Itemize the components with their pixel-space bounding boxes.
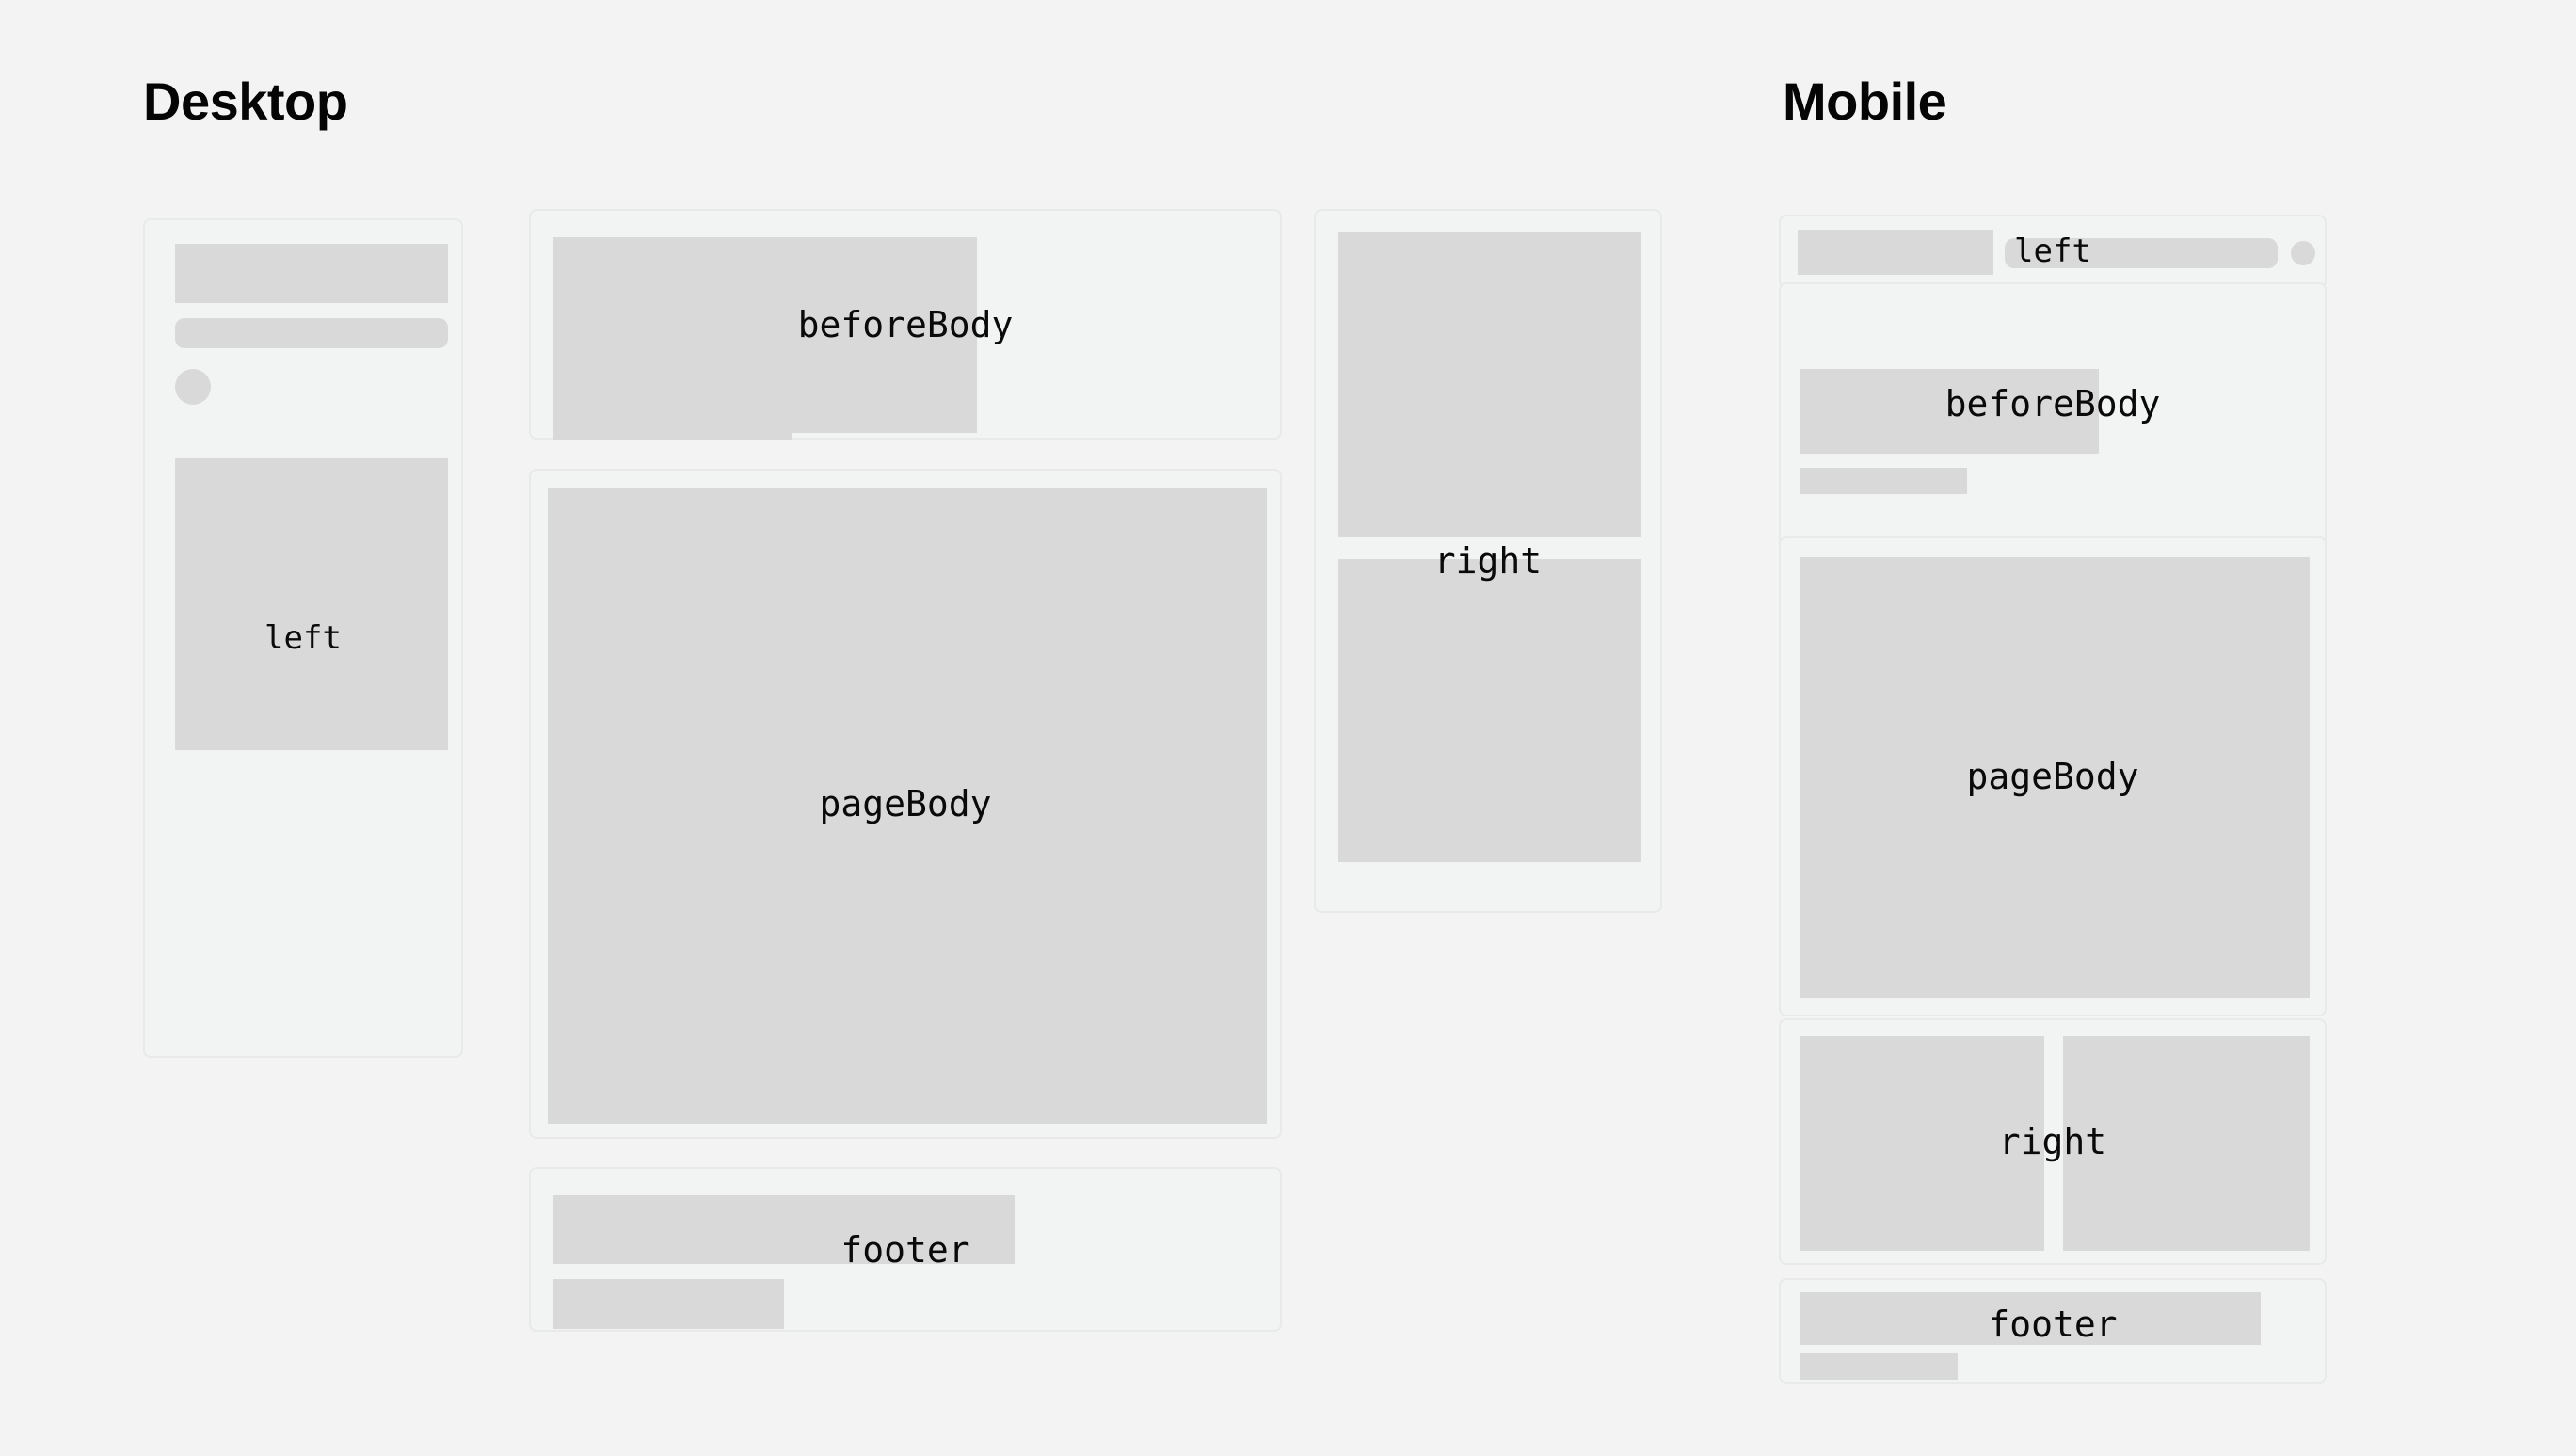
skeleton-block-large [1800,557,2310,998]
skeleton-block-small [1800,1353,1958,1380]
mobile-section-title: Mobile [1783,75,1946,128]
skeleton-block [1800,1036,2044,1251]
desktop-slot-pagebody-panel[interactable] [529,469,1282,1139]
skeleton-block [1800,369,2099,454]
desktop-slot-beforebody-panel[interactable] [529,209,1282,440]
skeleton-block [1338,559,1641,862]
skeleton-block-small [1800,468,1967,494]
desktop-slot-left-panel[interactable] [143,218,463,1058]
desktop-section-title: Desktop [143,75,347,128]
mobile-slot-right-panel[interactable] [1779,1018,2327,1265]
skeleton-block [1800,1292,2261,1345]
skeleton-block-small [553,385,792,440]
skeleton-block-rounded [175,318,448,348]
skeleton-block-large [548,488,1267,1124]
skeleton-block-rounded [2005,238,2278,268]
mobile-slot-footer-panel[interactable] [1779,1278,2327,1384]
skeleton-avatar-circle [175,369,211,405]
skeleton-block-tall [175,458,448,750]
skeleton-avatar-circle [2291,241,2315,265]
mobile-slot-left-panel[interactable] [1779,215,2327,288]
skeleton-block [1798,230,1993,275]
desktop-slot-footer-panel[interactable] [529,1167,1282,1332]
skeleton-block [2063,1036,2310,1251]
desktop-slot-right-panel[interactable] [1314,209,1662,913]
skeleton-block-small [553,1279,784,1329]
skeleton-block [1338,232,1641,537]
skeleton-block [175,244,448,303]
mobile-slot-pagebody-panel[interactable] [1779,536,2327,1016]
skeleton-block [553,1195,1015,1264]
